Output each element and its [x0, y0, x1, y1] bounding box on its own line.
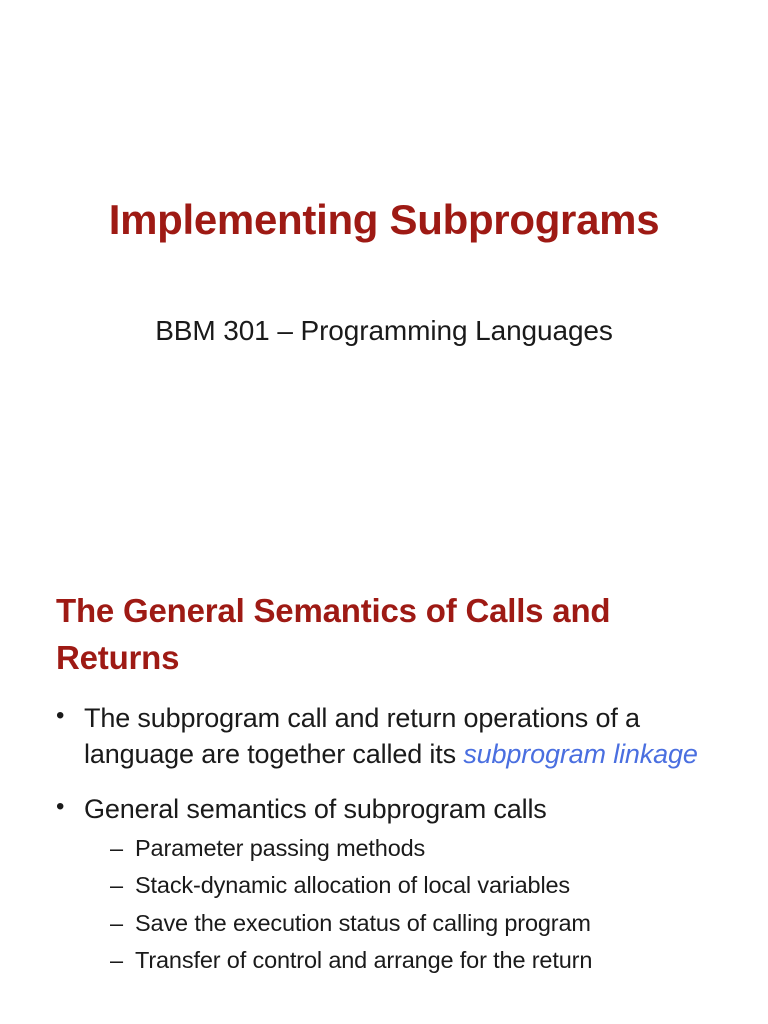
bullet-item: The subprogram call and return operation…: [56, 700, 720, 773]
title-block: Implementing Subprograms BBM 301 – Progr…: [0, 196, 768, 347]
sub-bullet-item: Save the execution status of calling pro…: [110, 907, 720, 940]
content-block: The General Semantics of Calls and Retur…: [56, 588, 720, 977]
sub-bullet-item: Stack-dynamic allocation of local variab…: [110, 869, 720, 902]
slide-page: Implementing Subprograms BBM 301 – Progr…: [0, 0, 768, 1024]
sub-bullet-list: Parameter passing methods Stack-dynamic …: [84, 832, 720, 977]
bullet-list: The subprogram call and return operation…: [56, 700, 720, 978]
deck-title: Implementing Subprograms: [0, 196, 768, 243]
bullet-item: General semantics of subprogram calls Pa…: [56, 791, 720, 977]
bullet-emphasis: subprogram linkage: [463, 739, 697, 769]
sub-bullet-item: Transfer of control and arrange for the …: [110, 944, 720, 977]
sub-bullet-item: Parameter passing methods: [110, 832, 720, 865]
deck-subtitle: BBM 301 – Programming Languages: [0, 243, 768, 347]
bullet-text: General semantics of subprogram calls: [84, 794, 547, 824]
section-heading: The General Semantics of Calls and Retur…: [56, 588, 690, 682]
